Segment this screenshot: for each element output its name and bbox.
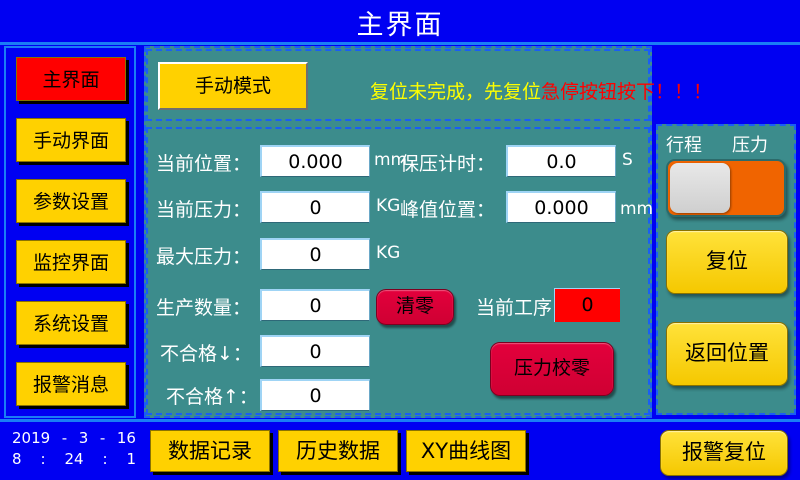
mode-bar: 手动模式 复位未完成，先复位 急停按钮按下！！！ [146, 49, 650, 121]
data-panel: 当前位置： 0.000 mm 当前压力： 0 KG 最大压力： 0 KG 生产数… [146, 127, 650, 415]
value-reject-low[interactable]: 0 [260, 335, 370, 367]
date-day: 16 [117, 428, 136, 449]
label-peak-position: 峰值位置： [400, 195, 495, 222]
alarm-warning-text: 复位未完成，先复位 [370, 77, 541, 104]
unit-current-pressure: KG [376, 196, 400, 216]
data-record-button[interactable]: 数据记录 [150, 430, 270, 472]
time-second: 1 [126, 449, 136, 470]
mode-toggle-button[interactable]: 手动模式 [158, 62, 308, 110]
value-reject-high[interactable]: 0 [260, 379, 370, 411]
label-stroke: 行程 [666, 131, 702, 157]
time-hour: 8 [12, 449, 22, 470]
date-year: 2019 [12, 428, 50, 449]
datetime-display: 2019 - 3 - 16 8 : 24 : 1 [6, 428, 142, 470]
time-row: 8 : 24 : 1 [6, 449, 142, 470]
page-title: 主界面 [0, 3, 800, 42]
value-current-pressure[interactable]: 0 [260, 191, 370, 223]
label-hold-timer: 保压计时： [400, 149, 495, 176]
date-sep-1: - [62, 428, 67, 449]
clear-counters-button[interactable]: 清零 [376, 289, 454, 325]
sidebar: 主界面 手动界面 参数设置 监控界面 系统设置 报警消息 [4, 46, 136, 418]
date-row: 2019 - 3 - 16 [6, 428, 142, 449]
sidebar-item-parameters[interactable]: 参数设置 [16, 179, 126, 223]
time-minute: 24 [64, 449, 83, 470]
return-position-button[interactable]: 返回位置 [666, 322, 788, 386]
stroke-pressure-toggle[interactable] [666, 159, 786, 217]
pressure-zero-calibration-button[interactable]: 压力校零 [490, 342, 614, 396]
title-bar: 主界面 [0, 0, 800, 42]
bottom-bar: 2019 - 3 - 16 8 : 24 : 1 数据记录 历史数据 XY曲线图… [0, 422, 800, 480]
label-current-position: 当前位置： [156, 149, 251, 176]
value-current-step: 0 [554, 288, 620, 322]
sidebar-item-system[interactable]: 系统设置 [16, 301, 126, 345]
alarm-error-text: 急停按钮按下！！！ [541, 77, 712, 104]
label-production-count: 生产数量： [156, 293, 251, 320]
unit-peak-position: mm [620, 199, 653, 219]
time-sep-2: : [102, 449, 107, 470]
value-current-position[interactable]: 0.000 [260, 145, 370, 177]
label-reject-low: 不合格↓： [160, 339, 252, 366]
sidebar-item-manual[interactable]: 手动界面 [16, 118, 126, 162]
value-hold-timer[interactable]: 0.0 [506, 145, 616, 177]
right-control-panel: 行程 压力 复位 返回位置 [656, 124, 796, 415]
reset-button[interactable]: 复位 [666, 230, 788, 294]
title-divider [0, 42, 800, 45]
hmi-screen: 主界面 主界面 手动界面 参数设置 监控界面 系统设置 报警消息 手动模式 复位… [0, 0, 800, 480]
value-max-pressure[interactable]: 0 [260, 238, 370, 270]
sidebar-item-main[interactable]: 主界面 [16, 57, 126, 101]
alarm-reset-button[interactable]: 报警复位 [660, 430, 788, 476]
history-data-button[interactable]: 历史数据 [278, 430, 398, 472]
time-sep-1: : [40, 449, 45, 470]
label-pressure: 压力 [732, 131, 768, 157]
unit-max-pressure: KG [376, 243, 400, 263]
date-sep-2: - [100, 428, 105, 449]
unit-hold-timer: S [622, 150, 633, 170]
xy-curve-button[interactable]: XY曲线图 [406, 430, 526, 472]
label-current-step: 当前工序 [476, 293, 552, 320]
date-month: 3 [79, 428, 89, 449]
value-peak-position[interactable]: 0.000 [506, 191, 616, 223]
value-production-count[interactable]: 0 [260, 289, 370, 321]
label-current-pressure: 当前压力： [156, 195, 251, 222]
toggle-knob-icon [670, 163, 730, 213]
sidebar-item-alarms[interactable]: 报警消息 [16, 362, 126, 406]
label-reject-high: 不合格↑： [166, 382, 258, 409]
sidebar-item-monitor[interactable]: 监控界面 [16, 240, 126, 284]
label-max-pressure: 最大压力： [156, 242, 251, 269]
